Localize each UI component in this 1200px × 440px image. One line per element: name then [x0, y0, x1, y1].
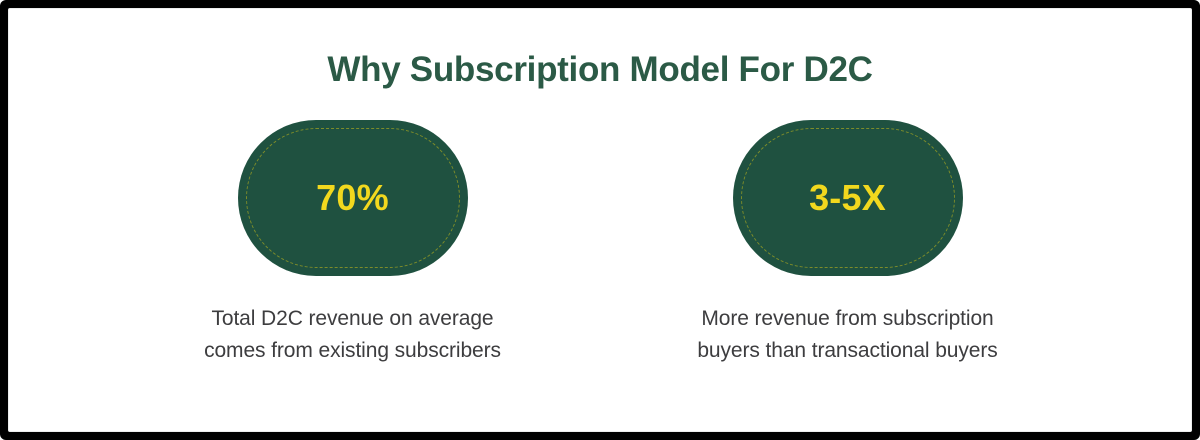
infographic-canvas: Why Subscription Model For D2C 70% Total…	[8, 8, 1192, 432]
stat-value-2: 3-5X	[809, 180, 886, 216]
stat-block-2: 3-5X More revenue from subscription buye…	[683, 120, 1013, 367]
page-title: Why Subscription Model For D2C	[9, 50, 1191, 90]
stat-caption-1: Total D2C revenue on average comes from …	[188, 303, 518, 367]
stat-caption-2: More revenue from subscription buyers th…	[683, 303, 1013, 367]
stat-block-1: 70% Total D2C revenue on average comes f…	[188, 120, 518, 367]
stats-row: 70% Total D2C revenue on average comes f…	[9, 120, 1191, 367]
stat-badge-1: 70%	[238, 120, 468, 276]
stat-value-1: 70%	[316, 180, 389, 216]
infographic-frame: Why Subscription Model For D2C 70% Total…	[0, 0, 1200, 440]
stat-badge-2: 3-5X	[733, 120, 963, 276]
